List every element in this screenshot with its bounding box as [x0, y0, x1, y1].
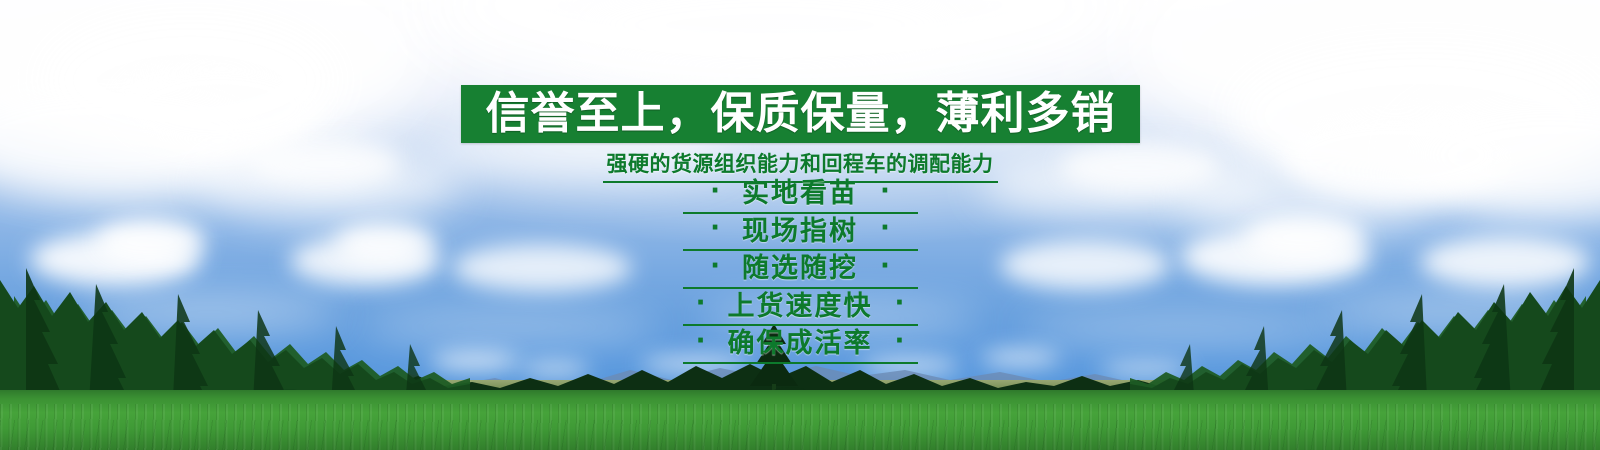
bullet-dot-right-icon: ·: [895, 290, 905, 316]
feature-item-3: · 随选随挖 ·: [683, 255, 918, 289]
feature-label-1: 实地看苗: [742, 180, 858, 208]
feature-item-1: · 实地看苗 ·: [683, 180, 918, 214]
feature-label-5: 确保成活率: [728, 330, 873, 358]
feature-item-2: · 现场指树 ·: [683, 218, 918, 252]
bullet-dot-right-icon: ·: [895, 328, 905, 354]
headline-banner-bar: 信誉至上，保质保量，薄利多销: [461, 85, 1140, 143]
feature-label-4: 上货速度快: [728, 293, 873, 321]
feature-label-3: 随选随挖: [742, 255, 858, 283]
feature-item-4: · 上货速度快 ·: [683, 293, 918, 327]
crop-rows-secondary: [0, 420, 1600, 450]
bullet-dot-right-icon: ·: [880, 215, 890, 241]
feature-list: · 实地看苗 · · 现场指树 · · 随选随挖 · · 上货速度快 · · 确…: [0, 180, 1600, 368]
bullet-dot-left-icon: ·: [710, 215, 720, 241]
bullet-dot-left-icon: ·: [696, 328, 706, 354]
bullet-dot-right-icon: ·: [880, 253, 890, 279]
bullet-dot-left-icon: ·: [710, 178, 720, 204]
promo-banner: 信誉至上，保质保量，薄利多销 强硬的货源组织能力和回程车的调配能力 · 实地看苗…: [0, 0, 1600, 450]
headline-text: 信誉至上，保质保量，薄利多销: [486, 92, 1116, 136]
bullet-dot-right-icon: ·: [880, 178, 890, 204]
bullet-dot-left-icon: ·: [696, 290, 706, 316]
bullet-dot-left-icon: ·: [710, 253, 720, 279]
feature-item-5: · 确保成活率 ·: [683, 330, 918, 364]
feature-label-2: 现场指树: [742, 218, 858, 246]
